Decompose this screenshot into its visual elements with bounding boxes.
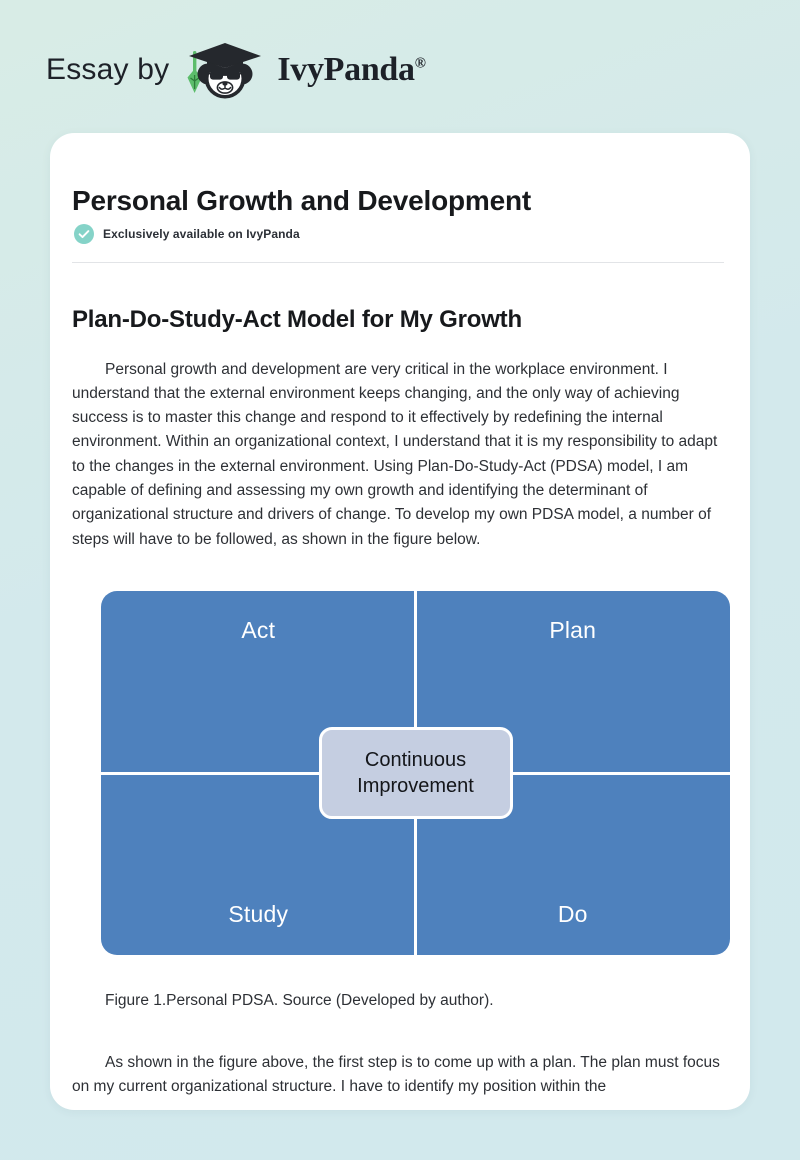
ivypanda-wordmark: IvyPanda® <box>277 53 425 87</box>
pdsa-cycle-diagram: Act Plan Study Do Continuous Improvement <box>101 591 730 955</box>
pdsa-center-line-2: Improvement <box>357 773 474 799</box>
pdsa-center-line-1: Continuous <box>365 747 466 773</box>
essay-paper-card: Personal Growth and Development Exclusiv… <box>50 133 750 1110</box>
page-title: Personal Growth and Development <box>72 184 732 218</box>
pdsa-quadrant-plan-label: Plan <box>549 619 596 642</box>
header-divider <box>72 262 724 263</box>
body-paragraph-1: Personal growth and development are very… <box>72 358 724 552</box>
registered-trademark-symbol: ® <box>415 56 426 72</box>
body-paragraph-2: As shown in the figure above, the first … <box>72 1051 724 1100</box>
pdsa-quadrant-study-label: Study <box>228 903 288 926</box>
exclusivity-badge: Exclusively available on IvyPanda <box>74 224 300 244</box>
pdsa-quadrant-do-label: Do <box>558 903 588 926</box>
section-heading: Plan-Do-Study-Act Model for My Growth <box>72 305 732 335</box>
brand-name-text: IvyPanda <box>277 51 414 88</box>
ivypanda-panda-graduate-logo-icon <box>179 37 267 103</box>
essay-by-label: Essay by <box>46 55 169 85</box>
exclusivity-badge-label: Exclusively available on IvyPanda <box>103 227 300 241</box>
pdsa-center-box: Continuous Improvement <box>319 727 513 819</box>
check-circle-icon <box>74 224 94 244</box>
pdsa-figure: Act Plan Study Do Continuous Improvement <box>101 591 730 955</box>
figure-caption: Figure 1.Personal PDSA. Source (Develope… <box>72 989 724 1013</box>
pdsa-quadrant-act-label: Act <box>241 619 275 642</box>
site-brand-header[interactable]: Essay by IvyPanda® <box>46 34 426 106</box>
